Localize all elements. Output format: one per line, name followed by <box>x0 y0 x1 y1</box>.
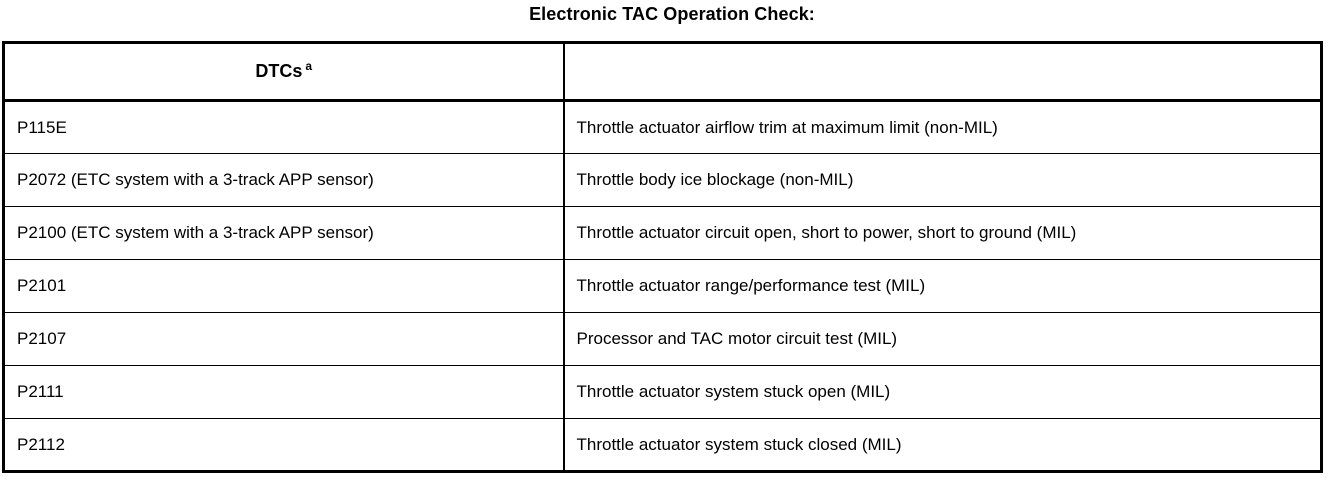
column-header-dtcs-label: DTCs <box>255 61 302 81</box>
cell-dtc-description: Throttle actuator range/performance test… <box>564 260 1322 313</box>
column-header-description <box>564 43 1322 101</box>
dtc-table-container: DTCsa P115E Throttle actuator airflow tr… <box>2 41 1320 473</box>
cell-dtc-code: P2112 <box>4 419 564 472</box>
table-row: P2072 (ETC system with a 3-track APP sen… <box>4 154 1322 207</box>
column-header-dtcs: DTCsa <box>4 43 564 101</box>
cell-dtc-code: P2101 <box>4 260 564 313</box>
table-row: P2107 Processor and TAC motor circuit te… <box>4 313 1322 366</box>
cell-dtc-code: P115E <box>4 101 564 154</box>
cell-dtc-description: Throttle actuator airflow trim at maximu… <box>564 101 1322 154</box>
table-row: P2101 Throttle actuator range/performanc… <box>4 260 1322 313</box>
cell-dtc-code: P2072 (ETC system with a 3-track APP sen… <box>4 154 564 207</box>
cell-dtc-description: Throttle body ice blockage (non-MIL) <box>564 154 1322 207</box>
cell-dtc-code: P2111 <box>4 366 564 419</box>
column-header-dtcs-footnote-marker: a <box>305 59 312 73</box>
table-row: P115E Throttle actuator airflow trim at … <box>4 101 1322 154</box>
cell-dtc-code: P2100 (ETC system with a 3-track APP sen… <box>4 207 564 260</box>
table-row: P2100 (ETC system with a 3-track APP sen… <box>4 207 1322 260</box>
table-row: P2111 Throttle actuator system stuck ope… <box>4 366 1322 419</box>
dtc-table: DTCsa P115E Throttle actuator airflow tr… <box>2 41 1323 473</box>
table-header: DTCsa <box>4 43 1322 101</box>
cell-dtc-description: Throttle actuator system stuck closed (M… <box>564 419 1322 472</box>
page-title: Electronic TAC Operation Check: <box>0 0 1344 24</box>
page-root: Electronic TAC Operation Check: DTCsa P1… <box>0 0 1344 482</box>
cell-dtc-description: Throttle actuator circuit open, short to… <box>564 207 1322 260</box>
table-body: P115E Throttle actuator airflow trim at … <box>4 101 1322 472</box>
cell-dtc-description: Throttle actuator system stuck open (MIL… <box>564 366 1322 419</box>
table-header-row: DTCsa <box>4 43 1322 101</box>
table-row: P2112 Throttle actuator system stuck clo… <box>4 419 1322 472</box>
cell-dtc-description: Processor and TAC motor circuit test (MI… <box>564 313 1322 366</box>
cell-dtc-code: P2107 <box>4 313 564 366</box>
